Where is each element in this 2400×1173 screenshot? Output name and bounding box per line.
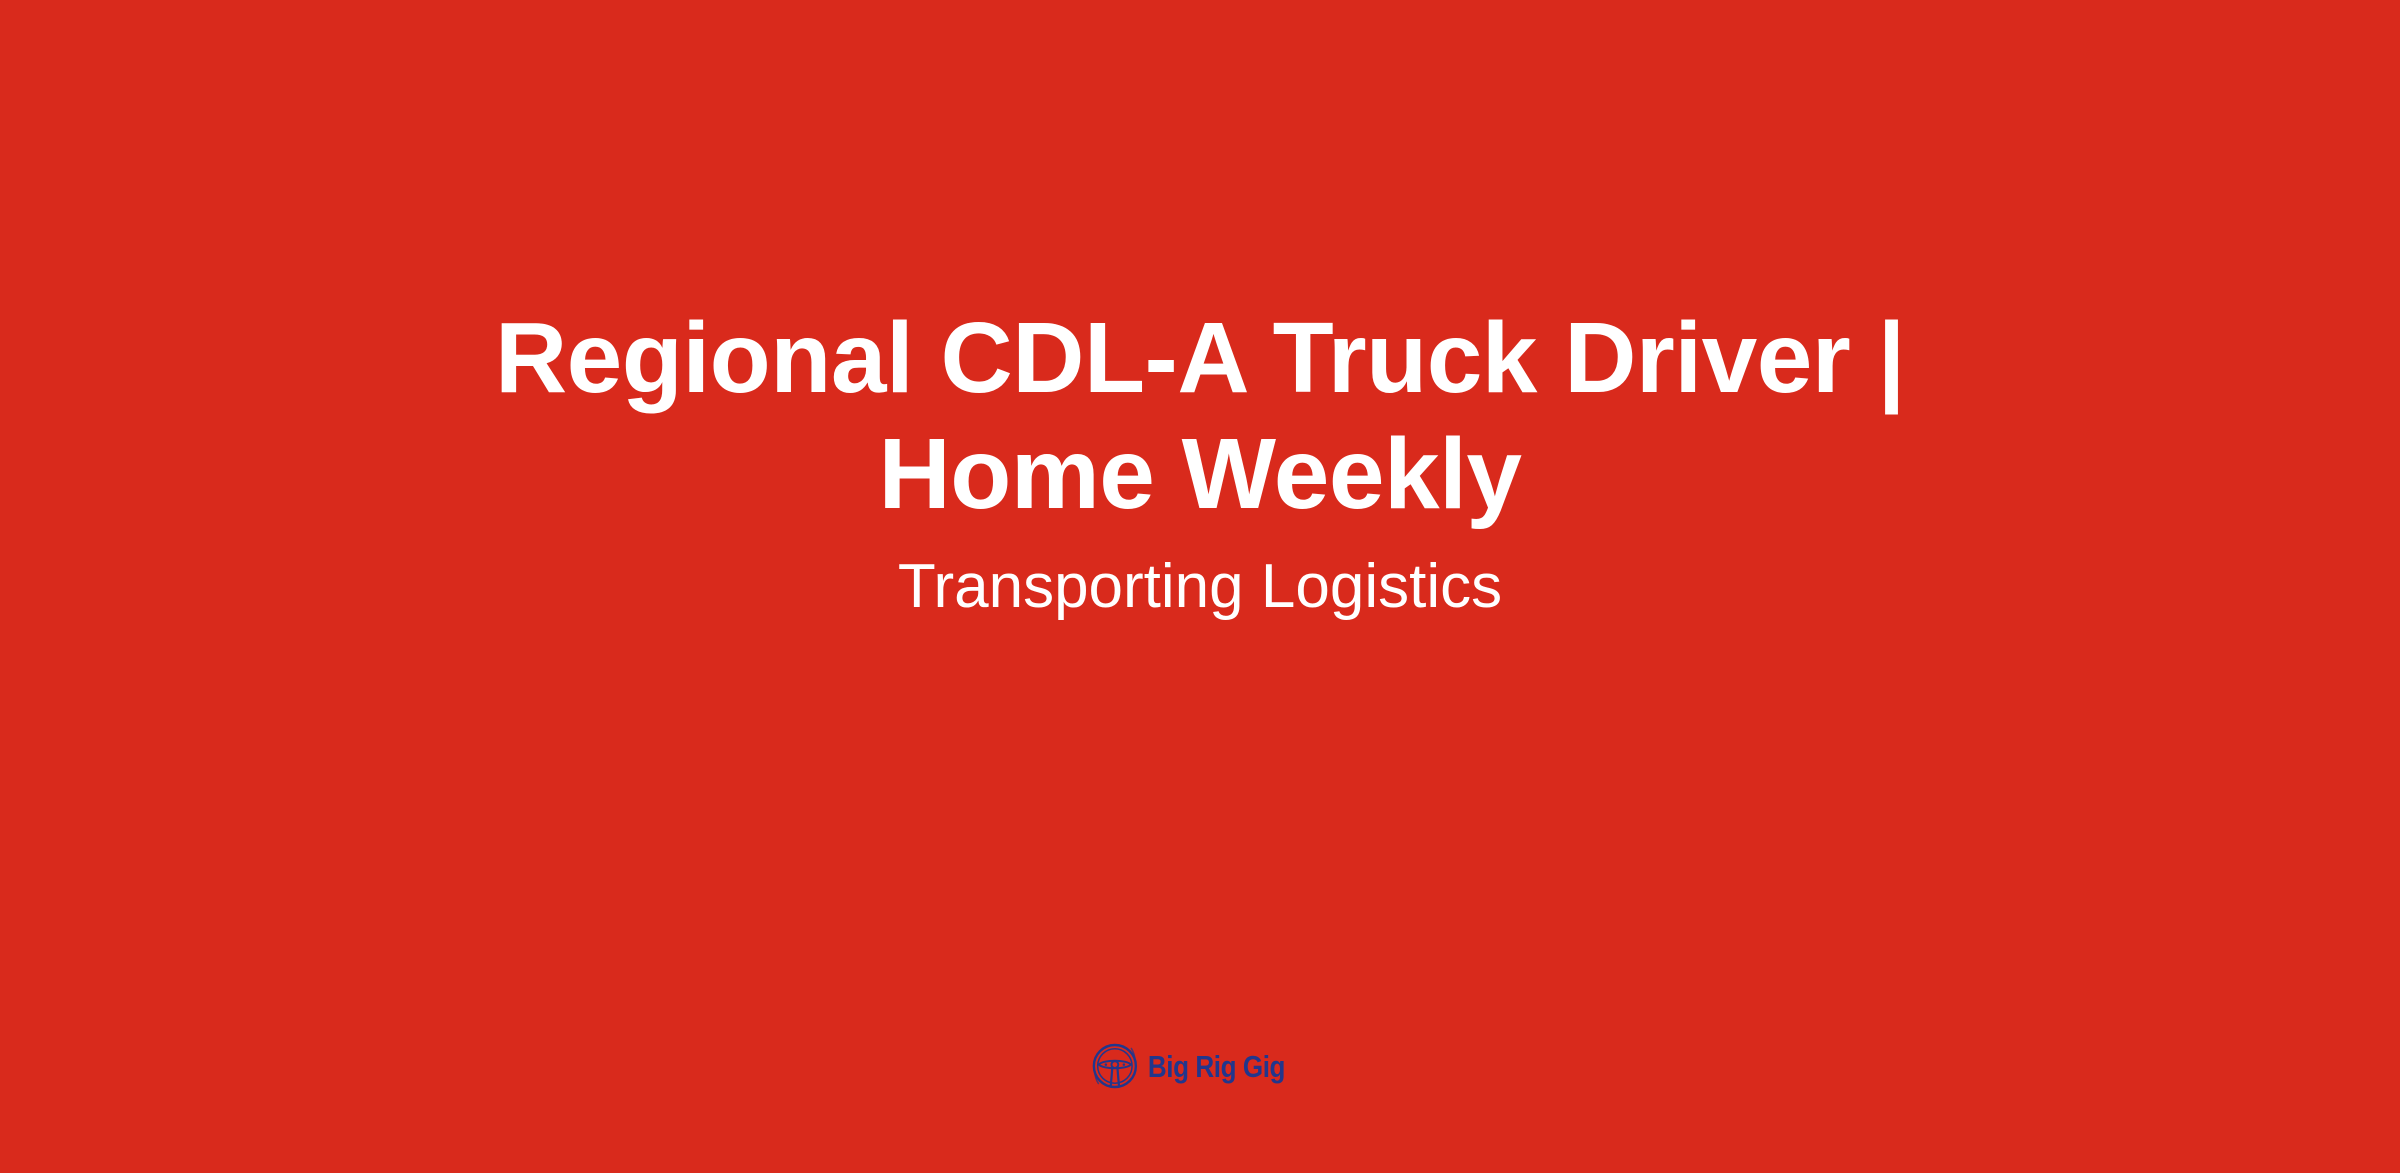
brand-wordmark: Big Rig Gig xyxy=(1148,1051,1285,1082)
page-title: Regional CDL-A Truck Driver | Home Weekl… xyxy=(370,300,2030,532)
hero-section: Regional CDL-A Truck Driver | Home Weekl… xyxy=(0,0,2400,624)
company-subtitle: Transporting Logistics xyxy=(898,550,1502,624)
brand-logo[interactable]: Big Rig Gig xyxy=(1089,1040,1311,1092)
steering-wheel-icon xyxy=(1089,1040,1141,1092)
job-posting-card: Regional CDL-A Truck Driver | Home Weekl… xyxy=(0,0,2400,1173)
